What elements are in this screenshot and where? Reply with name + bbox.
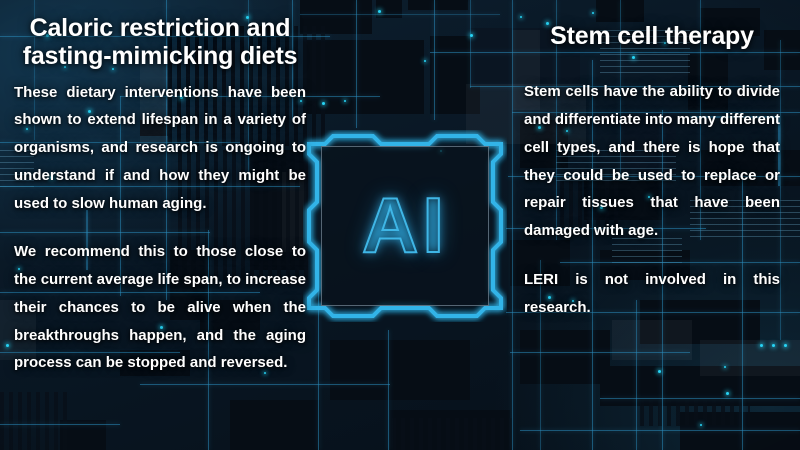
slide-canvas: AI Caloric restriction and fasting-mimic…	[0, 0, 800, 450]
left-heading: Caloric restriction and fasting-mimickin…	[14, 14, 306, 71]
right-heading: Stem cell therapy	[524, 22, 780, 50]
left-paragraph-1: These dietary interventions have been sh…	[14, 79, 306, 218]
ai-chip-graphic: AI	[303, 130, 507, 322]
right-paragraph-1: Stem cells have the ability to divide an…	[524, 78, 780, 245]
right-text-column: Stem cell therapy Stem cells have the ab…	[524, 22, 780, 321]
chip-ai-label: AI	[303, 180, 507, 271]
left-text-column: Caloric restriction and fasting-mimickin…	[14, 14, 306, 377]
right-paragraph-2: LERI is not involved in this research.	[524, 266, 780, 322]
left-paragraph-2: We recommend this to those close to the …	[14, 238, 306, 377]
